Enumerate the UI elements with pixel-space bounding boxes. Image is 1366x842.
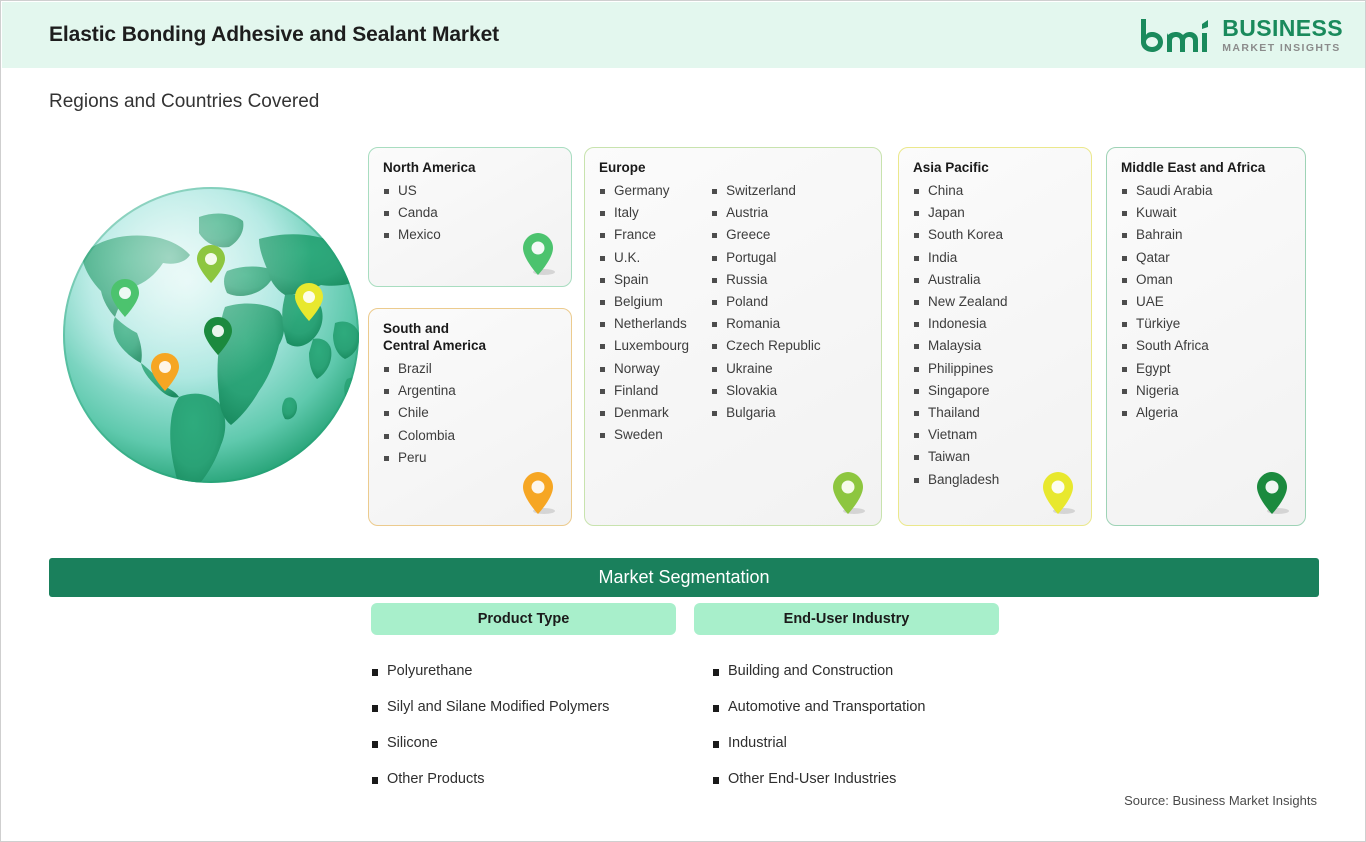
country-item: New Zealand xyxy=(913,291,1077,313)
page-title: Elastic Bonding Adhesive and Sealant Mar… xyxy=(49,23,499,47)
country-item: Denmark xyxy=(599,402,689,424)
country-item: India xyxy=(913,247,1077,269)
logo-tagline-text: MARKET INSIGHTS xyxy=(1222,43,1343,54)
country-item: Nigeria xyxy=(1121,380,1291,402)
logo-brand-text: BUSINESS xyxy=(1222,17,1343,40)
market-segmentation-bar: Market Segmentation xyxy=(49,558,1319,597)
segmentation-item: Automotive and Transportation xyxy=(712,699,999,715)
segmentation-item: Other End-User Industries xyxy=(712,771,999,787)
country-item: Japan xyxy=(913,202,1077,224)
region-card-south-central-america: South and Central America Brazil Argenti… xyxy=(368,308,572,526)
country-item: Italy xyxy=(599,202,689,224)
country-item: Germany xyxy=(599,180,689,202)
segmentation-item: Polyurethane xyxy=(371,663,676,679)
section-heading: Regions and Countries Covered xyxy=(49,91,319,113)
country-item: Türkiye xyxy=(1121,313,1291,335)
country-item: Kuwait xyxy=(1121,202,1291,224)
country-item: Vietnam xyxy=(913,424,1077,446)
country-item: Saudi Arabia xyxy=(1121,180,1291,202)
country-item: Portugal xyxy=(711,247,821,269)
region-title: Asia Pacific xyxy=(913,159,1077,176)
country-list: Saudi Arabia Kuwait Bahrain Qatar Oman U… xyxy=(1121,180,1291,424)
country-item: Argentina xyxy=(383,380,557,402)
region-card-asia-pacific: Asia Pacific China Japan South Korea Ind… xyxy=(898,147,1092,526)
country-item: South Africa xyxy=(1121,335,1291,357)
country-item: Malaysia xyxy=(913,335,1077,357)
country-item: Romania xyxy=(711,313,821,335)
country-item: Norway xyxy=(599,358,689,380)
country-item: Czech Republic xyxy=(711,335,821,357)
country-item: Ukraine xyxy=(711,358,821,380)
country-item: Algeria xyxy=(1121,402,1291,424)
segmentation-item: Building and Construction xyxy=(712,663,999,679)
country-item: France xyxy=(599,224,689,246)
segmentation-item: Silyl and Silane Modified Polymers xyxy=(371,699,676,715)
country-list: Brazil Argentina Chile Colombia Peru xyxy=(383,358,557,469)
country-item: Philippines xyxy=(913,358,1077,380)
country-item: Belgium xyxy=(599,291,689,313)
country-item: Greece xyxy=(711,224,821,246)
region-card-europe: Europe Germany Italy France U.K. Spain B… xyxy=(584,147,882,526)
country-item: U.K. xyxy=(599,247,689,269)
country-item: Brazil xyxy=(383,358,557,380)
country-item: UAE xyxy=(1121,291,1291,313)
segmentation-columns: Product Type Polyurethane Silyl and Sila… xyxy=(371,603,1321,807)
segmentation-item: Industrial xyxy=(712,735,999,751)
segmentation-item-list: Polyurethane Silyl and Silane Modified P… xyxy=(371,663,676,787)
logo-wordmark: BUSINESS MARKET INSIGHTS xyxy=(1222,17,1343,54)
region-title-line2: Central America xyxy=(383,338,486,353)
country-item: South Korea xyxy=(913,224,1077,246)
country-item: Oman xyxy=(1121,269,1291,291)
country-item: Peru xyxy=(383,447,557,469)
country-item: Singapore xyxy=(913,380,1077,402)
country-list-column-1: Germany Italy France U.K. Spain Belgium … xyxy=(599,180,689,446)
country-item: Indonesia xyxy=(913,313,1077,335)
country-item: Australia xyxy=(913,269,1077,291)
country-item: Finland xyxy=(599,380,689,402)
country-item: Austria xyxy=(711,202,821,224)
region-card-middle-east-africa: Middle East and Africa Saudi Arabia Kuwa… xyxy=(1106,147,1306,526)
infographic-page: Elastic Bonding Adhesive and Sealant Mar… xyxy=(0,0,1366,842)
region-title: South and Central America xyxy=(383,320,557,354)
country-item: Thailand xyxy=(913,402,1077,424)
region-title: Europe xyxy=(599,159,867,176)
country-item: Switzerland xyxy=(711,180,821,202)
country-item: Bahrain xyxy=(1121,224,1291,246)
map-pin-icon xyxy=(1041,471,1075,515)
segmentation-header-end-user-industry: End-User Industry xyxy=(694,603,999,635)
segmentation-item-list: Building and Construction Automotive and… xyxy=(712,663,999,787)
country-item: Canda xyxy=(383,202,557,224)
region-title-line1: South and xyxy=(383,321,449,336)
country-item: Netherlands xyxy=(599,313,689,335)
segmentation-header-product-type: Product Type xyxy=(371,603,676,635)
country-list-column-2: Switzerland Austria Greece Portugal Russ… xyxy=(711,180,821,446)
region-card-north-america: North America US Canda Mexico xyxy=(368,147,572,287)
country-item: Chile xyxy=(383,402,557,424)
market-segmentation-title: Market Segmentation xyxy=(598,567,769,588)
world-globe-illustration xyxy=(59,183,363,487)
segmentation-item: Silicone xyxy=(371,735,676,751)
map-pin-icon xyxy=(521,232,555,276)
country-item: Sweden xyxy=(599,424,689,446)
country-item: Slovakia xyxy=(711,380,821,402)
map-pin-icon xyxy=(521,471,555,515)
region-title: North America xyxy=(383,159,557,176)
source-attribution: Source: Business Market Insights xyxy=(1124,793,1317,808)
country-item: Spain xyxy=(599,269,689,291)
country-item: US xyxy=(383,180,557,202)
country-item: Luxembourg xyxy=(599,335,689,357)
country-item: Colombia xyxy=(383,425,557,447)
country-item: Egypt xyxy=(1121,358,1291,380)
map-pin-icon xyxy=(1255,471,1289,515)
country-item: Russia xyxy=(711,269,821,291)
brand-logo: BUSINESS MARKET INSIGHTS xyxy=(1137,16,1343,54)
country-list: China Japan South Korea India Australia … xyxy=(913,180,1077,491)
page-header: Elastic Bonding Adhesive and Sealant Mar… xyxy=(2,2,1365,68)
country-item: Bulgaria xyxy=(711,402,821,424)
region-title: Middle East and Africa xyxy=(1121,159,1291,176)
country-item: Poland xyxy=(711,291,821,313)
country-item: China xyxy=(913,180,1077,202)
globe-svg xyxy=(59,183,363,487)
country-item: Qatar xyxy=(1121,247,1291,269)
segmentation-column-product-type: Product Type Polyurethane Silyl and Sila… xyxy=(371,603,676,807)
segmentation-item: Other Products xyxy=(371,771,676,787)
map-pin-icon xyxy=(831,471,865,515)
segmentation-column-end-user-industry: End-User Industry Building and Construct… xyxy=(694,603,999,807)
country-item: Taiwan xyxy=(913,446,1077,468)
bmi-logo-icon xyxy=(1137,16,1213,54)
